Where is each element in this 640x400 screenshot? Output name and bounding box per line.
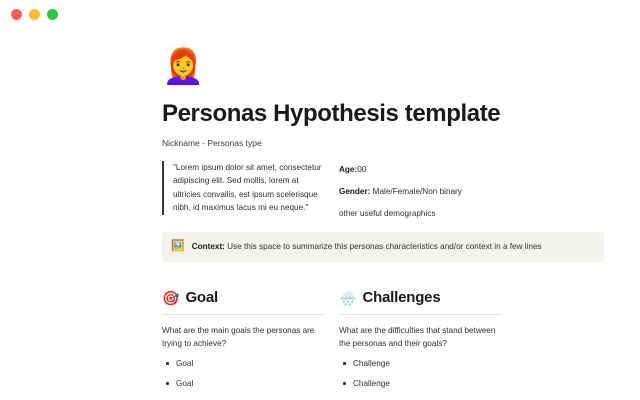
list-item[interactable]: Goal — [162, 357, 325, 370]
context-callout-text: Context: Use this space to summarize thi… — [192, 240, 542, 253]
quote-column: "Lorem ipsum dolor sit amet, consectetur… — [162, 161, 325, 220]
page-title[interactable]: Personas Hypothesis template — [162, 100, 604, 128]
section-goal-question[interactable]: What are the main goals the personas are… — [162, 324, 325, 350]
section-challenges-divider — [339, 314, 502, 315]
gender-label: Gender: — [339, 187, 370, 196]
rain-cloud-icon: 🌧️ — [339, 289, 356, 307]
list-item[interactable]: Challenge — [339, 377, 502, 390]
window-titlebar — [0, 0, 640, 28]
gender-line[interactable]: Gender: Male/Female/Non binary — [339, 185, 604, 198]
section-challenges-title[interactable]: Challenges — [362, 288, 440, 307]
section-goal: 🎯 Goal What are the main goals the perso… — [162, 288, 325, 400]
list-item[interactable]: Goal — [162, 377, 325, 390]
page-subtitle[interactable]: Nickname - Personas type — [162, 137, 604, 149]
age-line[interactable]: Age:00 — [339, 163, 604, 176]
list-item[interactable]: Challenge — [339, 357, 502, 370]
section-goal-title[interactable]: Goal — [185, 288, 218, 307]
section-goal-list: Goal Goal List — [162, 357, 325, 400]
section-challenges-list: Challenge Challenge List — [339, 357, 502, 400]
section-challenges-question[interactable]: What are the difficulties that stand bet… — [339, 324, 502, 350]
section-goal-heading: 🎯 Goal — [162, 288, 325, 307]
section-challenges-heading: 🌧️ Challenges — [339, 288, 502, 307]
context-callout[interactable]: 🖼️ Context: Use this space to summarize … — [162, 232, 604, 262]
target-icon: 🎯 — [162, 289, 179, 307]
document-page: 👩‍🦰 Personas Hypothesis template Nicknam… — [0, 28, 640, 400]
other-demographics-line[interactable]: other useful demographics — [339, 207, 604, 220]
intro-columns: "Lorem ipsum dolor sit amet, consectetur… — [162, 161, 604, 220]
demographics-column: Age:00 Gender: Male/Female/Non binary ot… — [339, 161, 604, 220]
context-callout-label: Context: — [192, 242, 225, 251]
persona-avatar-emoji[interactable]: 👩‍🦰 — [162, 46, 604, 90]
framed-picture-icon: 🖼️ — [171, 240, 185, 253]
gender-value: Male/Female/Non binary — [370, 187, 461, 196]
persona-quote[interactable]: "Lorem ipsum dolor sit amet, consectetur… — [162, 161, 325, 215]
section-challenges: 🌧️ Challenges What are the difficulties … — [339, 288, 502, 400]
age-label: Age: — [339, 165, 357, 174]
close-window-button[interactable] — [11, 9, 22, 20]
context-callout-body: Use this space to summarize this persona… — [225, 242, 542, 251]
sections-columns: 🎯 Goal What are the main goals the perso… — [162, 288, 604, 400]
maximize-window-button[interactable] — [47, 9, 58, 20]
age-value: 00 — [357, 165, 366, 174]
minimize-window-button[interactable] — [29, 9, 40, 20]
section-goal-divider — [162, 314, 325, 315]
